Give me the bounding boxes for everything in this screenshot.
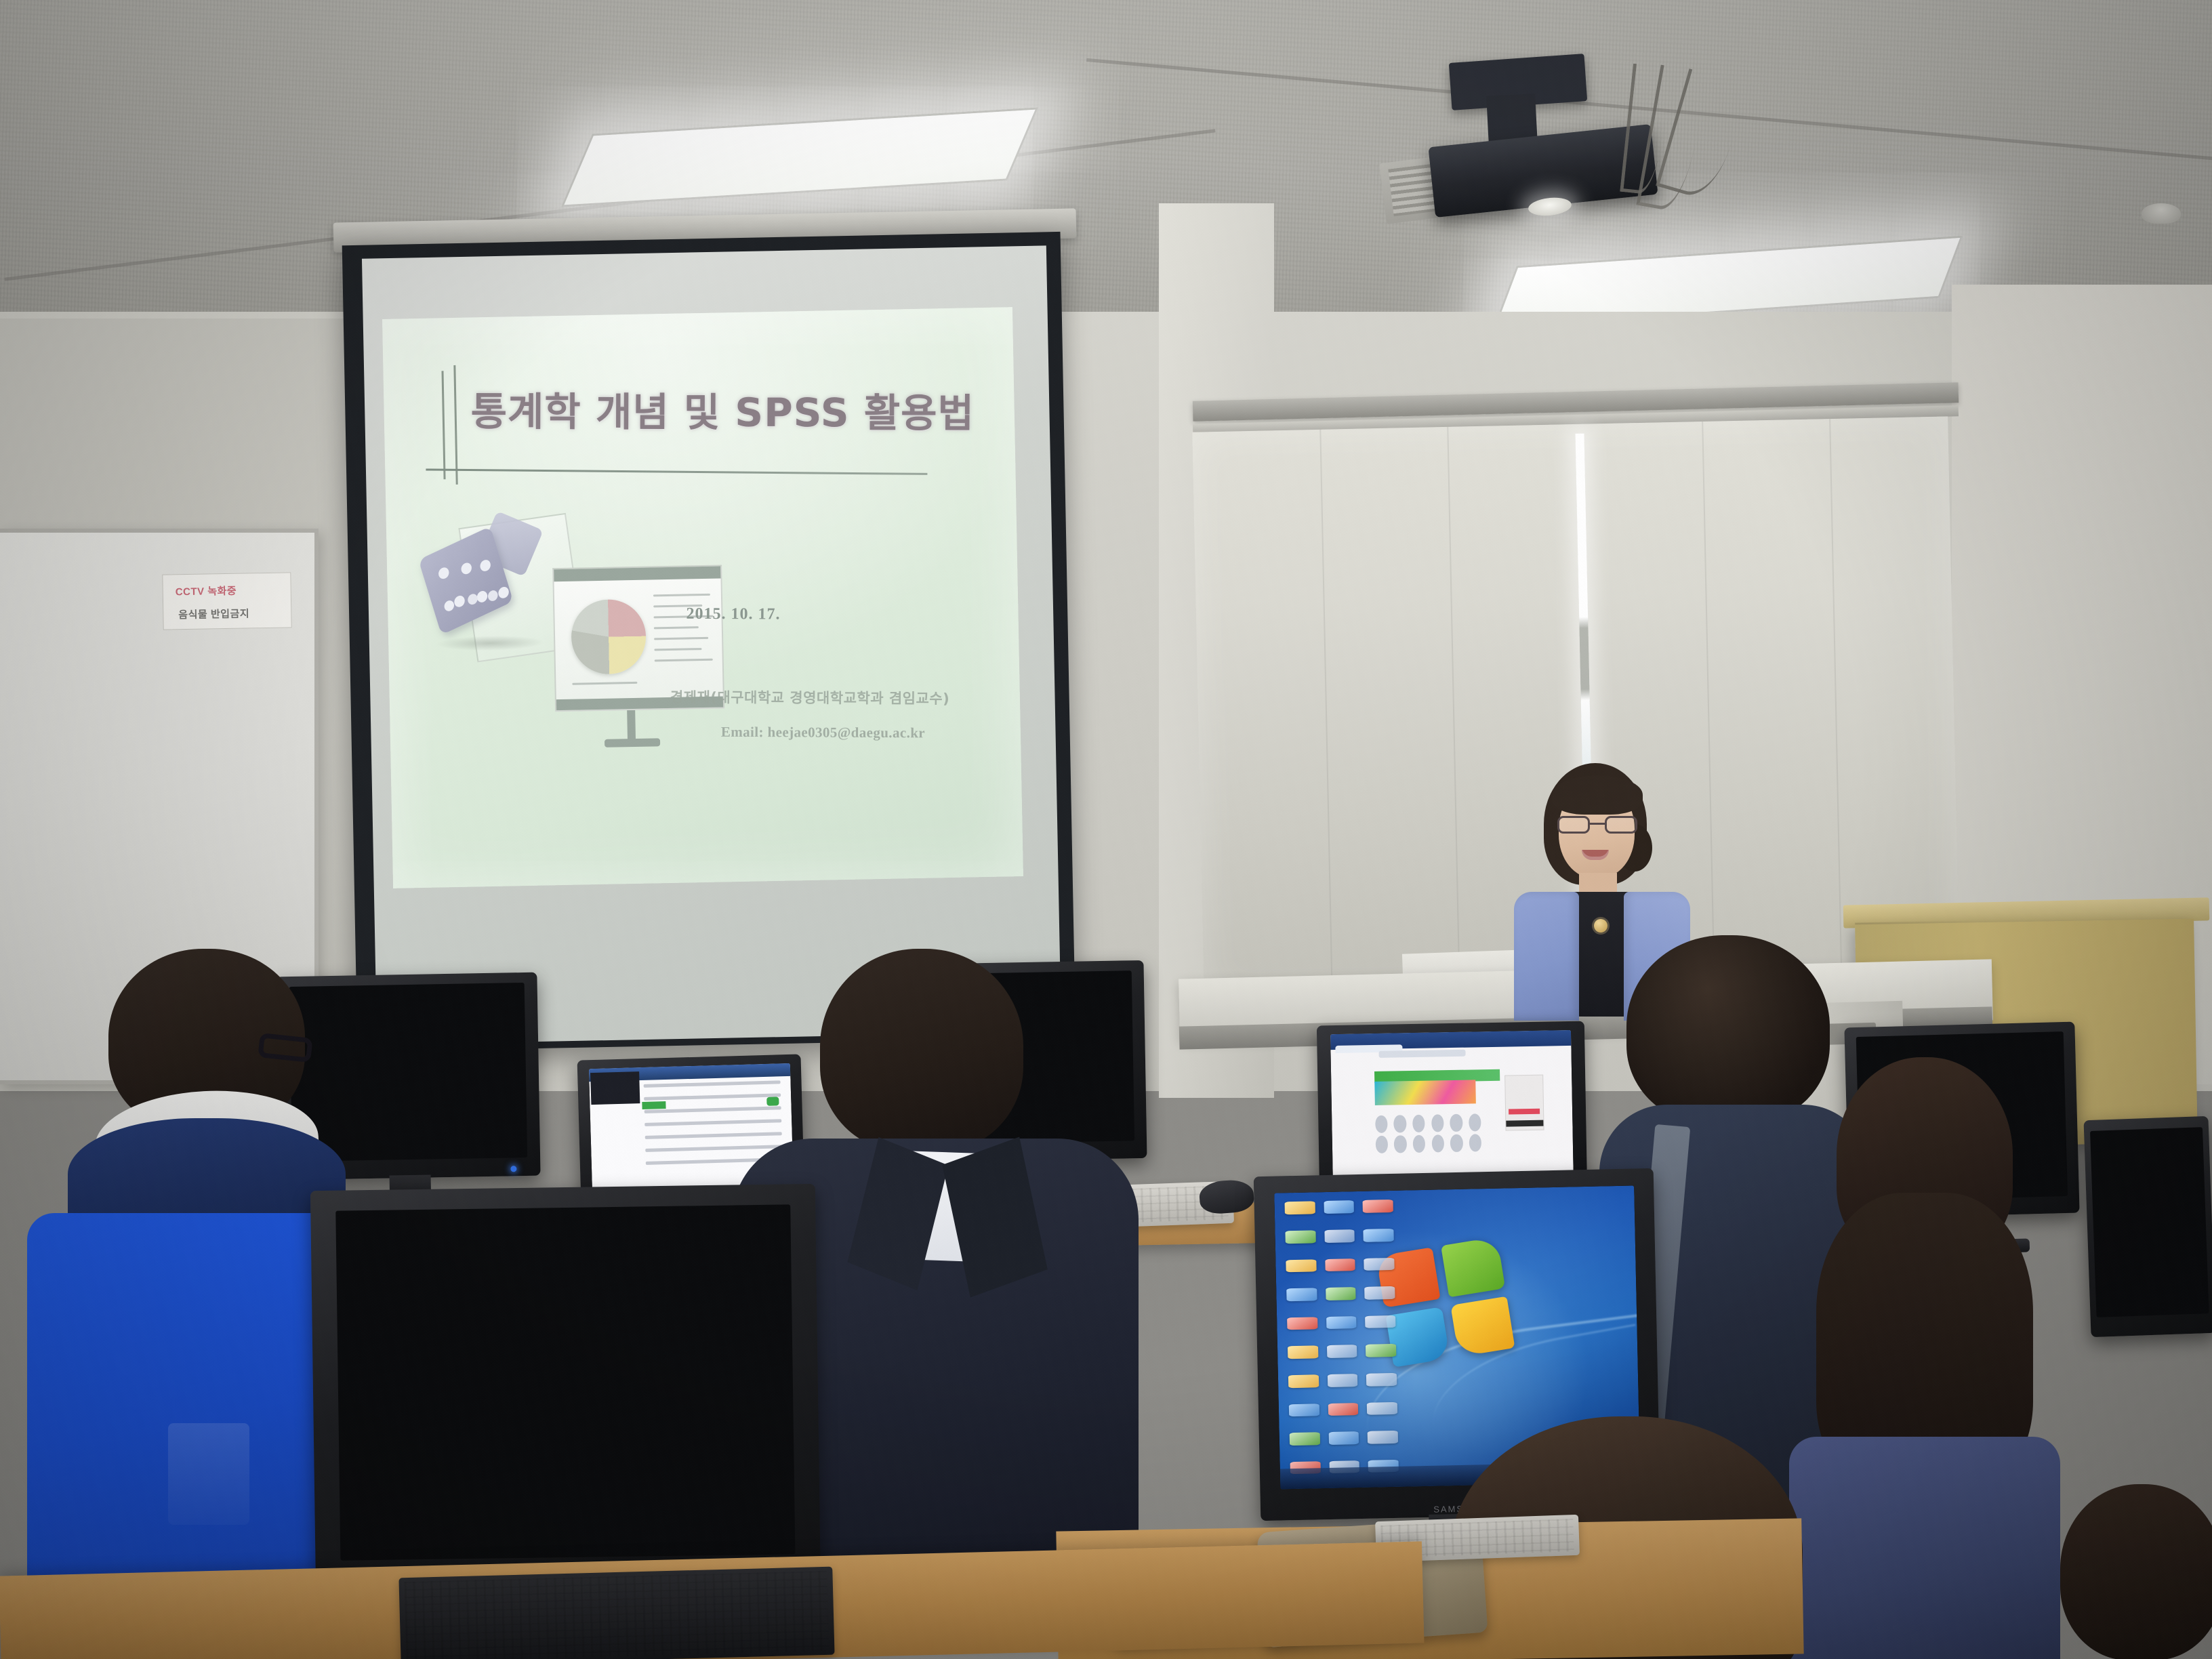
monitor-front-left[interactable]: SAMSUNG bbox=[310, 1184, 821, 1597]
clip-text-line bbox=[655, 659, 713, 662]
student-blue-jacket bbox=[20, 949, 346, 1659]
clip-text-line bbox=[654, 637, 708, 640]
monitor-clipart-top-bar bbox=[554, 566, 720, 581]
presenter-fringe bbox=[1552, 775, 1643, 815]
slide-date: 2015. 10. 17. bbox=[686, 605, 780, 624]
clip-text-line bbox=[654, 626, 699, 629]
glasses-lens-right bbox=[1605, 816, 1637, 834]
clip-text-line bbox=[653, 594, 710, 597]
portal-service-icon[interactable] bbox=[1450, 1114, 1462, 1132]
jacket-print bbox=[168, 1423, 249, 1525]
smoke-detector-icon bbox=[2142, 203, 2181, 224]
web-portal-page[interactable] bbox=[1330, 1030, 1574, 1181]
desktop-icon[interactable] bbox=[1364, 1229, 1394, 1242]
portal-hero-banner bbox=[1374, 1080, 1476, 1105]
monitor-screen bbox=[2090, 1127, 2209, 1317]
monitor-edge-right[interactable] bbox=[2083, 1116, 2212, 1337]
desktop-icon[interactable] bbox=[1324, 1201, 1354, 1214]
desktop-icon[interactable] bbox=[1365, 1315, 1395, 1328]
desktop-icon[interactable] bbox=[1286, 1230, 1316, 1243]
slide-title: 통계학 개념 및 SPSS 활용법 bbox=[471, 380, 959, 438]
portal-service-icon[interactable] bbox=[1375, 1136, 1388, 1153]
glasses-bridge bbox=[1590, 823, 1605, 825]
desktop-icon[interactable] bbox=[1363, 1200, 1393, 1212]
pie-chart-clipart bbox=[571, 599, 647, 675]
pendant-necklace-icon bbox=[1594, 919, 1607, 933]
blind-seam bbox=[1447, 427, 1460, 996]
desktop-icon[interactable] bbox=[1289, 1404, 1319, 1416]
projected-slide: 통계학 개념 및 SPSS 활용법 2015. 10. 17. 경제재(대구대학… bbox=[382, 307, 1023, 888]
portal-service-icon[interactable] bbox=[1394, 1136, 1407, 1153]
notice-text-red: CCTV 녹화중 bbox=[176, 583, 279, 599]
blind-seam bbox=[1319, 430, 1333, 999]
desktop-icon[interactable] bbox=[1328, 1431, 1359, 1444]
portal-service-icon[interactable] bbox=[1469, 1134, 1482, 1152]
portal-service-icon[interactable] bbox=[1450, 1134, 1463, 1152]
video-thumbnail[interactable] bbox=[591, 1071, 640, 1105]
portal-service-icon[interactable] bbox=[1394, 1115, 1407, 1132]
desktop-icon[interactable] bbox=[1287, 1288, 1317, 1301]
classroom-photo: 통계학 개념 및 SPSS 활용법 2015. 10. 17. 경제재(대구대학… bbox=[0, 0, 2212, 1659]
slide-rule-horizontal bbox=[426, 468, 927, 474]
student-edge-right bbox=[2060, 1484, 2212, 1659]
desktop-icon[interactable] bbox=[1367, 1402, 1397, 1415]
clip-text-line bbox=[654, 648, 701, 651]
desktop-icon[interactable] bbox=[1286, 1259, 1317, 1272]
monitor-screen bbox=[336, 1204, 796, 1560]
slide-rule-vertical bbox=[442, 371, 446, 479]
desktop-icon[interactable] bbox=[1288, 1346, 1318, 1359]
monitor-screen bbox=[1330, 1030, 1574, 1181]
notice-text-black: 음식물 반입금지 bbox=[178, 606, 280, 622]
desktop-icon[interactable] bbox=[1288, 1374, 1319, 1387]
monitor-clipart-base bbox=[605, 738, 660, 747]
student-head bbox=[2060, 1484, 2212, 1659]
portal-service-icon[interactable] bbox=[1431, 1135, 1444, 1153]
desktop-icon[interactable] bbox=[1288, 1317, 1318, 1330]
portal-service-icon[interactable] bbox=[1375, 1115, 1388, 1133]
windows-logo-pane-green bbox=[1441, 1237, 1505, 1298]
portal-sidebar-highlight bbox=[1509, 1109, 1540, 1115]
slide-email: Email: heejae0305@daegu.ac.kr bbox=[721, 724, 1023, 742]
desktop-icon[interactable] bbox=[1290, 1433, 1320, 1446]
monitor-clipart-stand bbox=[627, 710, 636, 741]
desktop-icon[interactable] bbox=[1326, 1287, 1356, 1300]
desktop-icon[interactable] bbox=[1325, 1258, 1355, 1271]
desktop-icon[interactable] bbox=[1366, 1344, 1396, 1357]
desktop-icon[interactable] bbox=[1328, 1374, 1358, 1387]
desktop-icon[interactable] bbox=[1326, 1316, 1357, 1329]
desktop-icon[interactable] bbox=[1327, 1345, 1357, 1358]
glasses-icon bbox=[1556, 816, 1639, 834]
portal-service-icon[interactable] bbox=[1413, 1135, 1426, 1153]
presenter-cardigan-left bbox=[1514, 892, 1579, 1021]
student-head bbox=[820, 949, 1023, 1152]
windows-logo-icon bbox=[1376, 1237, 1515, 1368]
clip-text-line bbox=[572, 682, 637, 685]
portal-sidebar bbox=[1504, 1074, 1544, 1130]
blind-seam bbox=[1829, 419, 1843, 988]
desktop-icon[interactable] bbox=[1366, 1373, 1397, 1386]
desktop-icon[interactable] bbox=[1285, 1202, 1315, 1214]
windows-logo-pane-yellow bbox=[1450, 1296, 1515, 1357]
desktop-icon[interactable] bbox=[1364, 1286, 1395, 1299]
portal-service-icon[interactable] bbox=[1469, 1113, 1481, 1131]
portal-search-bar[interactable] bbox=[1378, 1049, 1465, 1058]
whiteboard-notice: CCTV 녹화중 음식물 반입금지 bbox=[162, 572, 291, 630]
desktop-icon[interactable] bbox=[1364, 1258, 1394, 1271]
desktop-icon[interactable] bbox=[1328, 1403, 1359, 1416]
blind-seam bbox=[1702, 422, 1715, 991]
portal-service-icon[interactable] bbox=[1431, 1114, 1444, 1132]
portal-sidebar-footer bbox=[1506, 1120, 1543, 1127]
slide-affiliation: 경제재(대구대학교 경영대학교학과 겸임교수) bbox=[670, 687, 1009, 709]
portal-service-grid[interactable] bbox=[1375, 1113, 1481, 1153]
glasses-lens-left bbox=[1557, 816, 1590, 834]
slide-rule-vertical bbox=[453, 365, 457, 485]
portal-service-icon[interactable] bbox=[1412, 1115, 1425, 1132]
desktop-icon[interactable] bbox=[1324, 1229, 1355, 1242]
keyboard[interactable] bbox=[398, 1567, 834, 1659]
